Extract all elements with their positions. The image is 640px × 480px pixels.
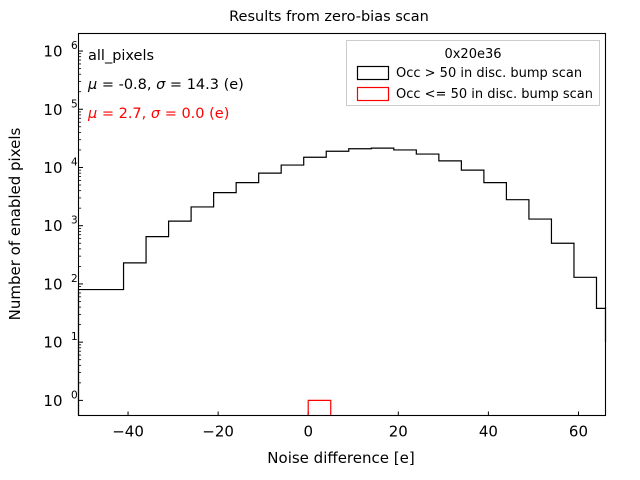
histogram-series-group — [79, 148, 606, 415]
y-tick-label: 10 — [43, 275, 62, 293]
y-tick-label-exponent: 5 — [71, 98, 78, 110]
y-tick-label-exponent: 3 — [71, 215, 78, 227]
x-tick-label: −40 — [112, 423, 144, 441]
legend-swatch-black — [358, 67, 389, 80]
legend-label-red: Occ <= 50 in disc. bump scan — [396, 87, 593, 102]
y-tick-label: 10 — [43, 101, 62, 119]
histogram-step-black — [79, 148, 606, 415]
annotation-dataset: all_pixels — [88, 48, 154, 64]
y-tick-label: 10 — [43, 217, 62, 235]
y-axis-ticks: 100101102103104105106 — [43, 34, 83, 410]
chart-legend: 0x20e36 Occ > 50 in disc. bump scan Occ … — [347, 41, 600, 106]
x-axis-label: Noise difference [e] — [267, 449, 414, 467]
y-tick-label-exponent: 4 — [71, 156, 78, 168]
y-axis-label: Number of enabled pixels — [6, 127, 24, 320]
histogram-step-red — [308, 400, 331, 415]
chart-title: Results from zero-bias scan — [229, 9, 429, 25]
plot-canvas: Results from zero-bias scan Number of en… — [0, 0, 640, 480]
y-tick-label: 10 — [43, 392, 62, 410]
x-tick-label: −20 — [202, 423, 234, 441]
y-tick-label-exponent: 0 — [71, 389, 78, 401]
y-tick-label-exponent: 1 — [71, 331, 78, 343]
legend-swatch-red — [358, 88, 389, 101]
y-tick-label-exponent: 6 — [71, 40, 78, 52]
x-tick-label: 60 — [569, 423, 588, 441]
y-tick-label: 10 — [43, 334, 62, 352]
x-tick-label: 40 — [479, 423, 498, 441]
legend-title: 0x20e36 — [444, 47, 501, 62]
legend-label-black: Occ > 50 in disc. bump scan — [396, 66, 582, 81]
y-tick-label-exponent: 2 — [71, 273, 78, 285]
x-tick-label: 20 — [389, 423, 408, 441]
y-tick-label: 10 — [43, 43, 62, 61]
x-tick-label: 0 — [303, 423, 313, 441]
matplotlib-figure: Results from zero-bias scan Number of en… — [0, 0, 640, 480]
annotation-black-stats: μ = -0.8, σ = 14.3 (e) — [87, 77, 244, 93]
annotation-red-stats: μ = 2.7, σ = 0.0 (e) — [87, 106, 229, 122]
y-tick-label: 10 — [43, 159, 62, 177]
